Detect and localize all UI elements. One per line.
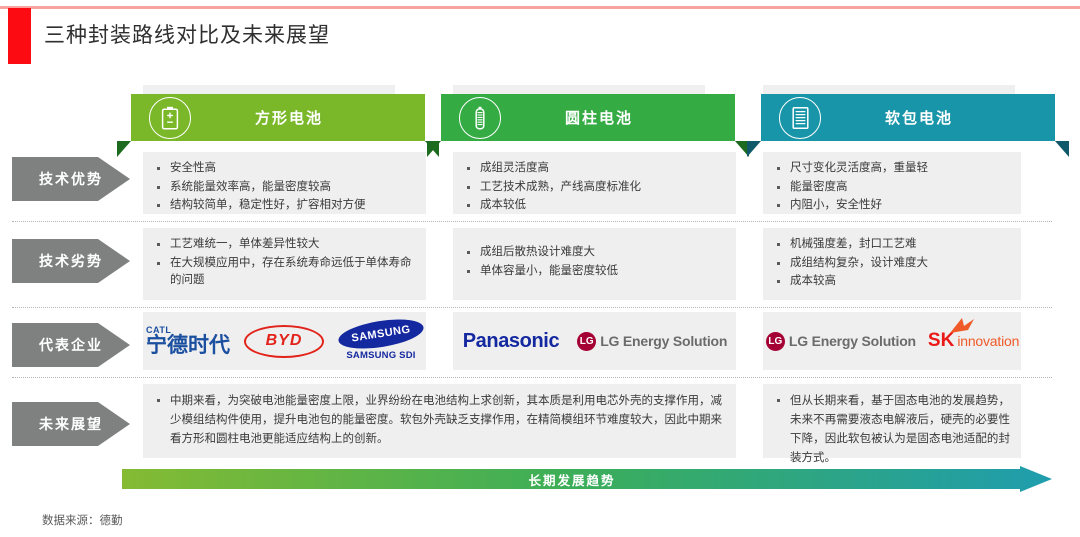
source-note: 数据来源：德勤 [42, 512, 123, 528]
row-label-outlook: 未来展望 [12, 402, 130, 446]
row-separator [12, 377, 1052, 378]
cell-outlook-midterm: 中期来看，为突破电池能量密度上限，业界纷纷在电池结构上求创新，其本质是利用电芯外… [143, 384, 736, 458]
sk-innovation-label: innovation [957, 333, 1019, 349]
cell-advantages-prismatic: 安全性高 系统能量效率高，能量密度较高 结构较简单，稳定性好，扩容相对方便 [143, 152, 426, 214]
byd-logo: BYD [244, 325, 324, 358]
long-term-trend-arrow: 长期发展趋势 [122, 466, 1052, 492]
list-item: 成本较高 [775, 273, 1010, 291]
column-title-cylindrical: 圆柱电池 [501, 107, 697, 128]
lg-wordmark: LG Energy Solution [789, 333, 916, 349]
samsung-wordmark: SAMSUNG [336, 314, 425, 353]
row-label-disadvantages: 技术劣势 [12, 239, 130, 283]
panasonic-logo: Panasonic [463, 330, 559, 353]
ribbon-fold-left-cylindrical [427, 141, 441, 157]
bullet-list: 但从长期来看，基于固态电池的发展趋势，未来不再需要液态电解液后，硬壳的必要性下降… [775, 392, 1010, 468]
lg-energy-solution-logo: LG LG Energy Solution [577, 332, 727, 351]
cylindrical-battery-icon [459, 97, 501, 139]
bullet-list: 尺寸变化灵活度高，重量轻 能量密度高 内阻小，安全性好 [775, 160, 1010, 215]
pouch-battery-icon [779, 97, 821, 139]
samsung-sdi-label: SAMSUNG SDI [346, 350, 415, 361]
page-title: 三种封装路线对比及未来展望 [44, 19, 330, 49]
list-item: 安全性高 [155, 160, 415, 178]
column-header-cylindrical[interactable]: 圆柱电池 [441, 94, 735, 141]
list-item: 但从长期来看，基于固态电池的发展趋势，未来不再需要液态电解液后，硬壳的必要性下降… [775, 392, 1010, 468]
list-item: 工艺难统一，单体差异性较大 [155, 236, 415, 254]
trend-arrow-label: 长期发展趋势 [528, 470, 615, 489]
column-title-pouch: 软包电池 [821, 107, 1017, 128]
column-header-pouch[interactable]: 软包电池 [761, 94, 1055, 141]
bullet-list: 安全性高 系统能量效率高，能量密度较高 结构较简单，稳定性好，扩容相对方便 [155, 160, 415, 215]
catl-logo-cn: 宁德时代 [146, 335, 230, 356]
column-title-prismatic: 方形电池 [191, 107, 387, 128]
list-item: 成组结构复杂，设计难度大 [775, 255, 1010, 273]
row-separator [12, 307, 1052, 308]
list-item: 成本较低 [465, 197, 725, 215]
row-separator [12, 221, 1052, 222]
cell-companies-cylindrical: Panasonic LG LG Energy Solution [453, 312, 736, 370]
cell-disadvantages-cylindrical: 成组后散热设计难度大 单体容量小，能量密度较低 [453, 228, 736, 300]
lg-energy-solution-logo: LG LG Energy Solution [766, 332, 916, 351]
row-label-companies: 代表企业 [12, 323, 130, 367]
prismatic-battery-icon [149, 97, 191, 139]
slide-board: 三种封装路线对比及未来展望 方形电池 圆柱电池 [0, 0, 1080, 537]
list-item: 内阻小，安全性好 [775, 197, 1010, 215]
samsung-sdi-logo: SAMSUNG SAMSUNG SDI [338, 321, 424, 361]
row-label-advantages: 技术优势 [12, 157, 130, 201]
cell-outlook-pouch: 但从长期来看，基于固态电池的发展趋势，未来不再需要液态电解液后，硬壳的必要性下降… [763, 384, 1021, 458]
ribbon-fold-left-prismatic [117, 141, 131, 157]
cell-advantages-cylindrical: 成组灵活度高 工艺技术成熟，产线高度标准化 成本较低 [453, 152, 736, 214]
bullet-list: 中期来看，为突破电池能量密度上限，业界纷纷在电池结构上求创新，其本质是利用电芯外… [155, 392, 722, 449]
list-item: 工艺技术成熟，产线高度标准化 [465, 179, 725, 197]
list-item: 中期来看，为突破电池能量密度上限，业界纷纷在电池结构上求创新，其本质是利用电芯外… [155, 392, 722, 449]
cell-advantages-pouch: 尺寸变化灵活度高，重量轻 能量密度高 内阻小，安全性好 [763, 152, 1021, 214]
lg-wordmark: LG Energy Solution [600, 333, 727, 349]
list-item: 在大规模应用中，存在系统寿命远低于单体寿命的问题 [155, 255, 415, 290]
red-accent-tab [8, 8, 31, 64]
ribbon-fold-left-pouch [747, 141, 761, 157]
cell-disadvantages-prismatic: 工艺难统一，单体差异性较大 在大规模应用中，存在系统寿命远低于单体寿命的问题 [143, 228, 426, 300]
ribbon-fold-right-pouch [1055, 141, 1069, 157]
cell-companies-pouch: LG LG Energy Solution SK innovation [763, 312, 1021, 370]
catl-logo: CATL 宁德时代 [146, 326, 230, 356]
cell-disadvantages-pouch: 机械强度差，封口工艺难 成组结构复杂，设计难度大 成本较高 [763, 228, 1021, 300]
cell-companies-prismatic: CATL 宁德时代 BYD SAMSUNG SAMSUNG SDI [143, 312, 426, 370]
top-accent-rule [0, 6, 1080, 9]
sk-wing-icon [948, 317, 982, 335]
list-item: 单体容量小，能量密度较低 [465, 263, 725, 281]
bullet-list: 成组灵活度高 工艺技术成熟，产线高度标准化 成本较低 [465, 160, 725, 215]
list-item: 成组后散热设计难度大 [465, 244, 725, 262]
list-item: 机械强度差，封口工艺难 [775, 236, 1010, 254]
bullet-list: 工艺难统一，单体差异性较大 在大规模应用中，存在系统寿命远低于单体寿命的问题 [155, 236, 415, 290]
list-item: 成组灵活度高 [465, 160, 725, 178]
sk-innovation-logo: SK innovation [928, 330, 1019, 352]
list-item: 尺寸变化灵活度高，重量轻 [775, 160, 1010, 178]
bullet-list: 成组后散热设计难度大 单体容量小，能量密度较低 [465, 244, 725, 280]
list-item: 结构较简单，稳定性好，扩容相对方便 [155, 197, 415, 215]
lg-circle-icon: LG [766, 332, 785, 351]
lg-circle-icon: LG [577, 332, 596, 351]
column-header-prismatic[interactable]: 方形电池 [131, 94, 425, 141]
bullet-list: 机械强度差，封口工艺难 成组结构复杂，设计难度大 成本较高 [775, 236, 1010, 291]
list-item: 能量密度高 [775, 179, 1010, 197]
list-item: 系统能量效率高，能量密度较高 [155, 179, 415, 197]
